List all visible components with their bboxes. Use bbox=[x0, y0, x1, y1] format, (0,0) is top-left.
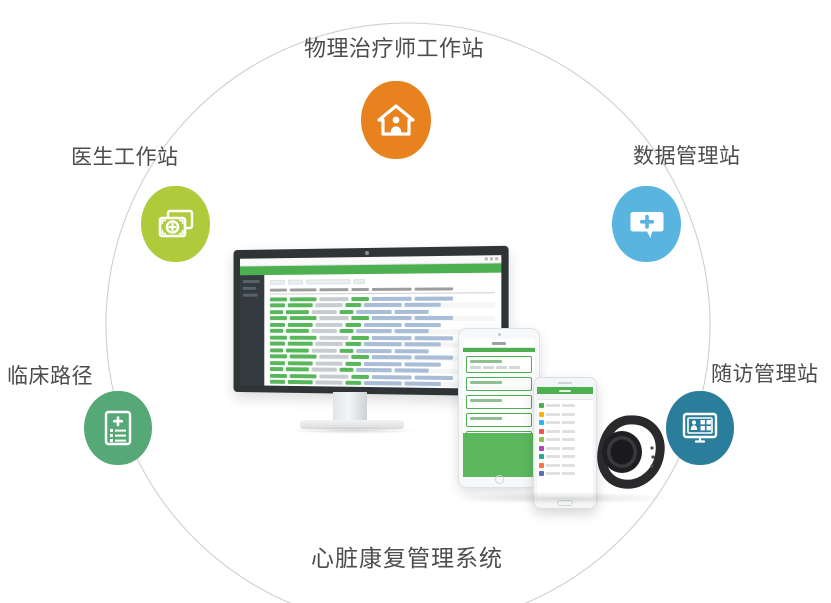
tablet-app-title bbox=[492, 342, 506, 345]
table-cell bbox=[346, 303, 362, 307]
table-cell bbox=[356, 329, 391, 333]
card-title bbox=[470, 360, 502, 363]
list-item-icon bbox=[539, 412, 544, 417]
table-cell bbox=[372, 316, 412, 320]
table-cell bbox=[286, 367, 309, 371]
table-cell bbox=[395, 349, 429, 353]
table-cell bbox=[288, 361, 313, 365]
table-cell bbox=[270, 367, 283, 371]
table-cell bbox=[288, 322, 313, 326]
list-item-label bbox=[546, 413, 560, 416]
table-cell bbox=[364, 361, 402, 365]
list-item-label bbox=[546, 455, 560, 458]
table-row[interactable] bbox=[270, 302, 495, 308]
card-title bbox=[470, 417, 502, 420]
table-cell bbox=[405, 323, 441, 327]
table-cell bbox=[356, 368, 391, 372]
table-cell bbox=[415, 375, 453, 380]
table-cell bbox=[316, 380, 343, 384]
list-item-value bbox=[562, 421, 575, 424]
table-cell bbox=[312, 329, 337, 333]
tablet-card[interactable] bbox=[466, 356, 532, 373]
list-item-value bbox=[562, 404, 575, 407]
fitness-wristband bbox=[588, 408, 666, 492]
table-cell bbox=[290, 374, 317, 378]
tablet-card[interactable] bbox=[466, 413, 532, 427]
phone-list[interactable] bbox=[537, 400, 593, 481]
monitor-person-icon bbox=[681, 410, 719, 446]
list-item-value bbox=[562, 413, 575, 416]
table-cell bbox=[415, 296, 453, 300]
node-label-data-management: 数据管理站 bbox=[633, 140, 741, 170]
table-cell bbox=[270, 310, 283, 314]
node-label-physical-therapist: 物理治疗师工作站 bbox=[304, 31, 484, 63]
table-cell bbox=[319, 374, 348, 378]
list-item[interactable] bbox=[539, 453, 591, 460]
tablet-home-button[interactable] bbox=[495, 475, 504, 484]
list-item-icon bbox=[539, 403, 544, 408]
phone-screen bbox=[537, 387, 593, 498]
table-row[interactable] bbox=[270, 322, 495, 327]
table-cell bbox=[288, 303, 313, 307]
sidebar-item[interactable] bbox=[243, 294, 258, 297]
table-cell bbox=[356, 348, 391, 352]
table-row[interactable] bbox=[270, 295, 495, 301]
table-cell bbox=[270, 348, 283, 352]
list-item-value bbox=[562, 472, 575, 475]
node-followup-management[interactable] bbox=[666, 391, 734, 465]
node-label-clinical-pathway: 临床路径 bbox=[7, 360, 93, 390]
table-cell bbox=[340, 348, 354, 352]
table-cell bbox=[356, 309, 391, 313]
list-item-icon bbox=[539, 446, 544, 451]
card-chip[interactable] bbox=[509, 366, 520, 369]
monitor-shadow bbox=[288, 427, 418, 434]
medical-card-icon bbox=[156, 207, 196, 241]
table-cell bbox=[270, 361, 285, 365]
table-cell bbox=[346, 322, 362, 326]
table-cell bbox=[364, 322, 402, 326]
table-cell bbox=[270, 373, 287, 377]
table-cell bbox=[290, 335, 317, 339]
table-cell bbox=[316, 322, 343, 326]
table-cell bbox=[340, 329, 354, 333]
column-header[interactable] bbox=[319, 288, 348, 291]
table-cell bbox=[364, 381, 402, 386]
table-cell bbox=[312, 310, 337, 314]
table-cell bbox=[415, 316, 453, 320]
table-cell bbox=[340, 368, 354, 372]
table-cell bbox=[316, 361, 343, 365]
table-cell bbox=[351, 316, 369, 320]
list-item-icon bbox=[539, 437, 544, 442]
list-item-value bbox=[562, 430, 575, 433]
list-item[interactable] bbox=[539, 445, 591, 452]
card-chip[interactable] bbox=[483, 366, 494, 369]
table-cell bbox=[270, 316, 287, 320]
close-icon[interactable] bbox=[495, 257, 498, 260]
table-cell bbox=[372, 375, 412, 379]
list-item-label bbox=[546, 430, 560, 433]
table-cell bbox=[405, 362, 441, 366]
card-title bbox=[470, 381, 502, 384]
table-cell bbox=[395, 329, 429, 333]
list-item-icon bbox=[539, 454, 544, 459]
table-cell bbox=[270, 335, 287, 339]
maximize-icon[interactable] bbox=[490, 257, 493, 260]
table-cell bbox=[270, 329, 283, 333]
tablet-footer-block bbox=[463, 433, 535, 477]
table-row[interactable] bbox=[270, 315, 495, 320]
node-clinical-pathway[interactable] bbox=[84, 391, 152, 465]
list-item-icon bbox=[539, 420, 544, 425]
list-item-icon bbox=[539, 429, 544, 434]
table-cell bbox=[415, 336, 453, 340]
list-item-icon bbox=[539, 463, 544, 468]
table-cell bbox=[286, 348, 309, 352]
table-cell bbox=[372, 336, 412, 340]
node-physical-therapist[interactable] bbox=[361, 81, 431, 159]
list-item[interactable] bbox=[539, 462, 591, 469]
table-cell bbox=[270, 342, 285, 346]
tablet-camera-icon bbox=[498, 333, 501, 336]
table-cell bbox=[351, 335, 369, 339]
infographic-canvas: 物理治疗师工作站 医生工作站 数据管理站 bbox=[0, 0, 831, 603]
node-label-doctor-workstation: 医生工作站 bbox=[71, 141, 179, 171]
phone-app-titlebar bbox=[537, 387, 593, 394]
table-cell bbox=[290, 354, 317, 358]
table-cell bbox=[270, 297, 287, 301]
list-item-value bbox=[562, 464, 575, 467]
table-cell bbox=[395, 309, 429, 313]
sidebar-item[interactable] bbox=[243, 287, 256, 290]
table-cell bbox=[319, 297, 348, 301]
table-cell bbox=[316, 342, 343, 346]
list-item-label bbox=[546, 421, 560, 424]
table-cell bbox=[405, 342, 441, 346]
table-cell bbox=[346, 361, 362, 365]
list-item[interactable] bbox=[539, 470, 591, 477]
earpiece-icon bbox=[558, 382, 572, 384]
table-cell bbox=[415, 355, 453, 359]
table-cell bbox=[286, 329, 309, 333]
app-sidebar[interactable] bbox=[240, 275, 264, 385]
table-cell bbox=[319, 355, 348, 359]
table-cell bbox=[340, 310, 354, 314]
table-cell bbox=[270, 380, 285, 384]
list-item-label bbox=[546, 464, 560, 467]
search-input[interactable] bbox=[306, 279, 350, 284]
list-item-icon bbox=[539, 471, 544, 476]
table-cell bbox=[270, 354, 287, 358]
list-item-value bbox=[562, 447, 575, 450]
tablet-device bbox=[458, 328, 540, 488]
search-button[interactable] bbox=[353, 279, 365, 284]
filter-bar[interactable] bbox=[270, 278, 495, 285]
list-item[interactable] bbox=[539, 411, 591, 418]
table-cell bbox=[270, 303, 285, 307]
table-header-row bbox=[270, 287, 495, 294]
table-cell bbox=[346, 342, 362, 346]
list-item-label bbox=[546, 447, 560, 450]
card-title bbox=[470, 399, 502, 402]
list-item[interactable] bbox=[539, 436, 591, 443]
table-cell bbox=[395, 368, 429, 372]
table-cell bbox=[351, 355, 369, 359]
filter-select[interactable] bbox=[288, 280, 303, 285]
table-cell bbox=[288, 342, 313, 346]
table-cell bbox=[364, 342, 402, 346]
table-cell bbox=[372, 296, 412, 300]
card-chip[interactable] bbox=[496, 366, 507, 369]
house-person-icon bbox=[376, 102, 416, 138]
list-item-label bbox=[546, 438, 560, 441]
tablet-card[interactable] bbox=[466, 377, 532, 391]
list-item-label bbox=[546, 472, 560, 475]
table-cell bbox=[316, 303, 343, 307]
table-cell bbox=[319, 316, 348, 320]
table-cell bbox=[312, 348, 337, 352]
monitor-stand-neck bbox=[333, 392, 367, 422]
column-header[interactable] bbox=[372, 288, 412, 291]
table-cell bbox=[288, 380, 313, 384]
table-cell bbox=[290, 316, 317, 320]
table-cell bbox=[364, 303, 402, 307]
tablet-screen bbox=[463, 339, 535, 477]
device-cluster bbox=[200, 230, 650, 530]
card-chip[interactable] bbox=[470, 366, 481, 369]
list-item[interactable] bbox=[539, 402, 591, 409]
table-cell bbox=[372, 355, 412, 359]
node-label-followup-management: 随访管理站 bbox=[711, 358, 819, 388]
list-item-label bbox=[546, 404, 560, 407]
tablet-card[interactable] bbox=[466, 395, 532, 409]
minimize-icon[interactable] bbox=[485, 257, 488, 260]
table-cell bbox=[312, 367, 337, 371]
table-cell bbox=[270, 322, 285, 326]
list-item-value bbox=[562, 438, 575, 441]
column-header[interactable] bbox=[290, 288, 317, 291]
sidebar-item[interactable] bbox=[243, 280, 260, 283]
list-item[interactable] bbox=[539, 419, 591, 426]
column-header[interactable] bbox=[415, 287, 453, 290]
table-row[interactable] bbox=[270, 309, 495, 314]
phone-app-title bbox=[559, 390, 571, 392]
tablet-accent-strip bbox=[463, 348, 535, 352]
device-shadow bbox=[455, 492, 670, 504]
column-header[interactable] bbox=[351, 288, 369, 291]
webcam-icon bbox=[365, 251, 369, 255]
table-cell bbox=[405, 303, 441, 307]
table-cell bbox=[351, 374, 369, 378]
table-footer bbox=[270, 388, 398, 389]
table-cell bbox=[346, 381, 362, 385]
list-item[interactable] bbox=[539, 428, 591, 435]
table-cell bbox=[351, 296, 369, 300]
filter-select[interactable] bbox=[270, 280, 285, 285]
table-cell bbox=[319, 335, 348, 339]
table-cell bbox=[286, 310, 309, 314]
table-cell bbox=[405, 381, 441, 386]
column-header[interactable] bbox=[270, 289, 287, 292]
list-item-value bbox=[562, 455, 575, 458]
clipboard-cross-icon bbox=[101, 409, 135, 447]
table-cell bbox=[290, 297, 317, 301]
tablet-app-titlebar bbox=[463, 339, 535, 348]
diagram-caption: 心脏康复管理系统 bbox=[311, 539, 503, 573]
